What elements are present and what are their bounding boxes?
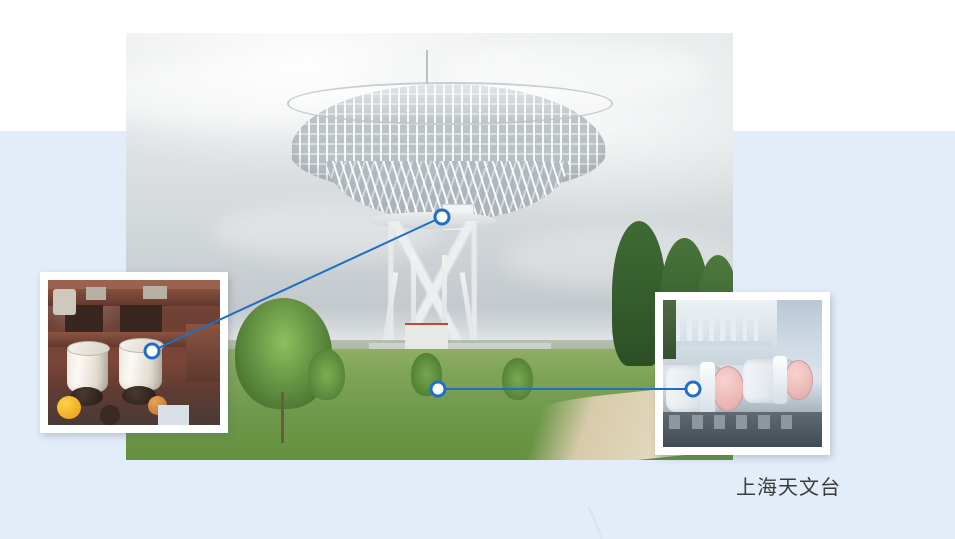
anchor-bolt: [781, 415, 792, 430]
worker-figure: [158, 405, 189, 425]
cooling-fin: [754, 318, 759, 342]
cylinder-flange: [67, 341, 110, 356]
worker-figure: [100, 405, 121, 425]
cylinder-flange: [119, 338, 164, 353]
cylinder-flange-rear: [773, 356, 787, 405]
shrub: [502, 358, 532, 401]
tree-edge: [663, 300, 676, 359]
cooling-fin: [687, 318, 692, 342]
telescope-dish-rim: [287, 82, 613, 124]
anchor-bolt: [736, 415, 747, 430]
anchor-bolt: [692, 415, 703, 430]
machine-side-panel: [186, 324, 220, 382]
tree-trunk: [281, 392, 284, 443]
anchor-bolt: [669, 415, 680, 430]
anchor-bolt: [714, 415, 725, 430]
cylinder-flange-front: [700, 362, 716, 415]
cooling-fin: [720, 318, 725, 342]
machine-plate: [53, 289, 75, 315]
shrub: [411, 353, 441, 396]
callout-right-image: [663, 300, 822, 447]
callout-photo-left[interactable]: [40, 272, 228, 433]
callout-photo-right[interactable]: [655, 292, 830, 455]
rust-beam: [48, 280, 220, 289]
cooling-fin: [709, 318, 714, 342]
photo-caption: 上海天文台: [736, 471, 841, 500]
cooling-fin: [676, 318, 681, 342]
cooling-fin: [698, 318, 703, 342]
cooling-fin: [743, 318, 748, 342]
hard-hat: [57, 396, 81, 419]
cooling-fin: [731, 318, 736, 342]
machine-bolt-block: [143, 286, 167, 299]
anchor-bolt: [758, 415, 769, 430]
machine-bolt-block: [86, 287, 107, 300]
callout-left-image: [48, 280, 220, 425]
manifold-rail: [673, 341, 772, 347]
slide-canvas: 上海天文台: [0, 0, 955, 539]
pink-end-cap-rear: [784, 360, 813, 400]
shrub: [308, 349, 344, 400]
